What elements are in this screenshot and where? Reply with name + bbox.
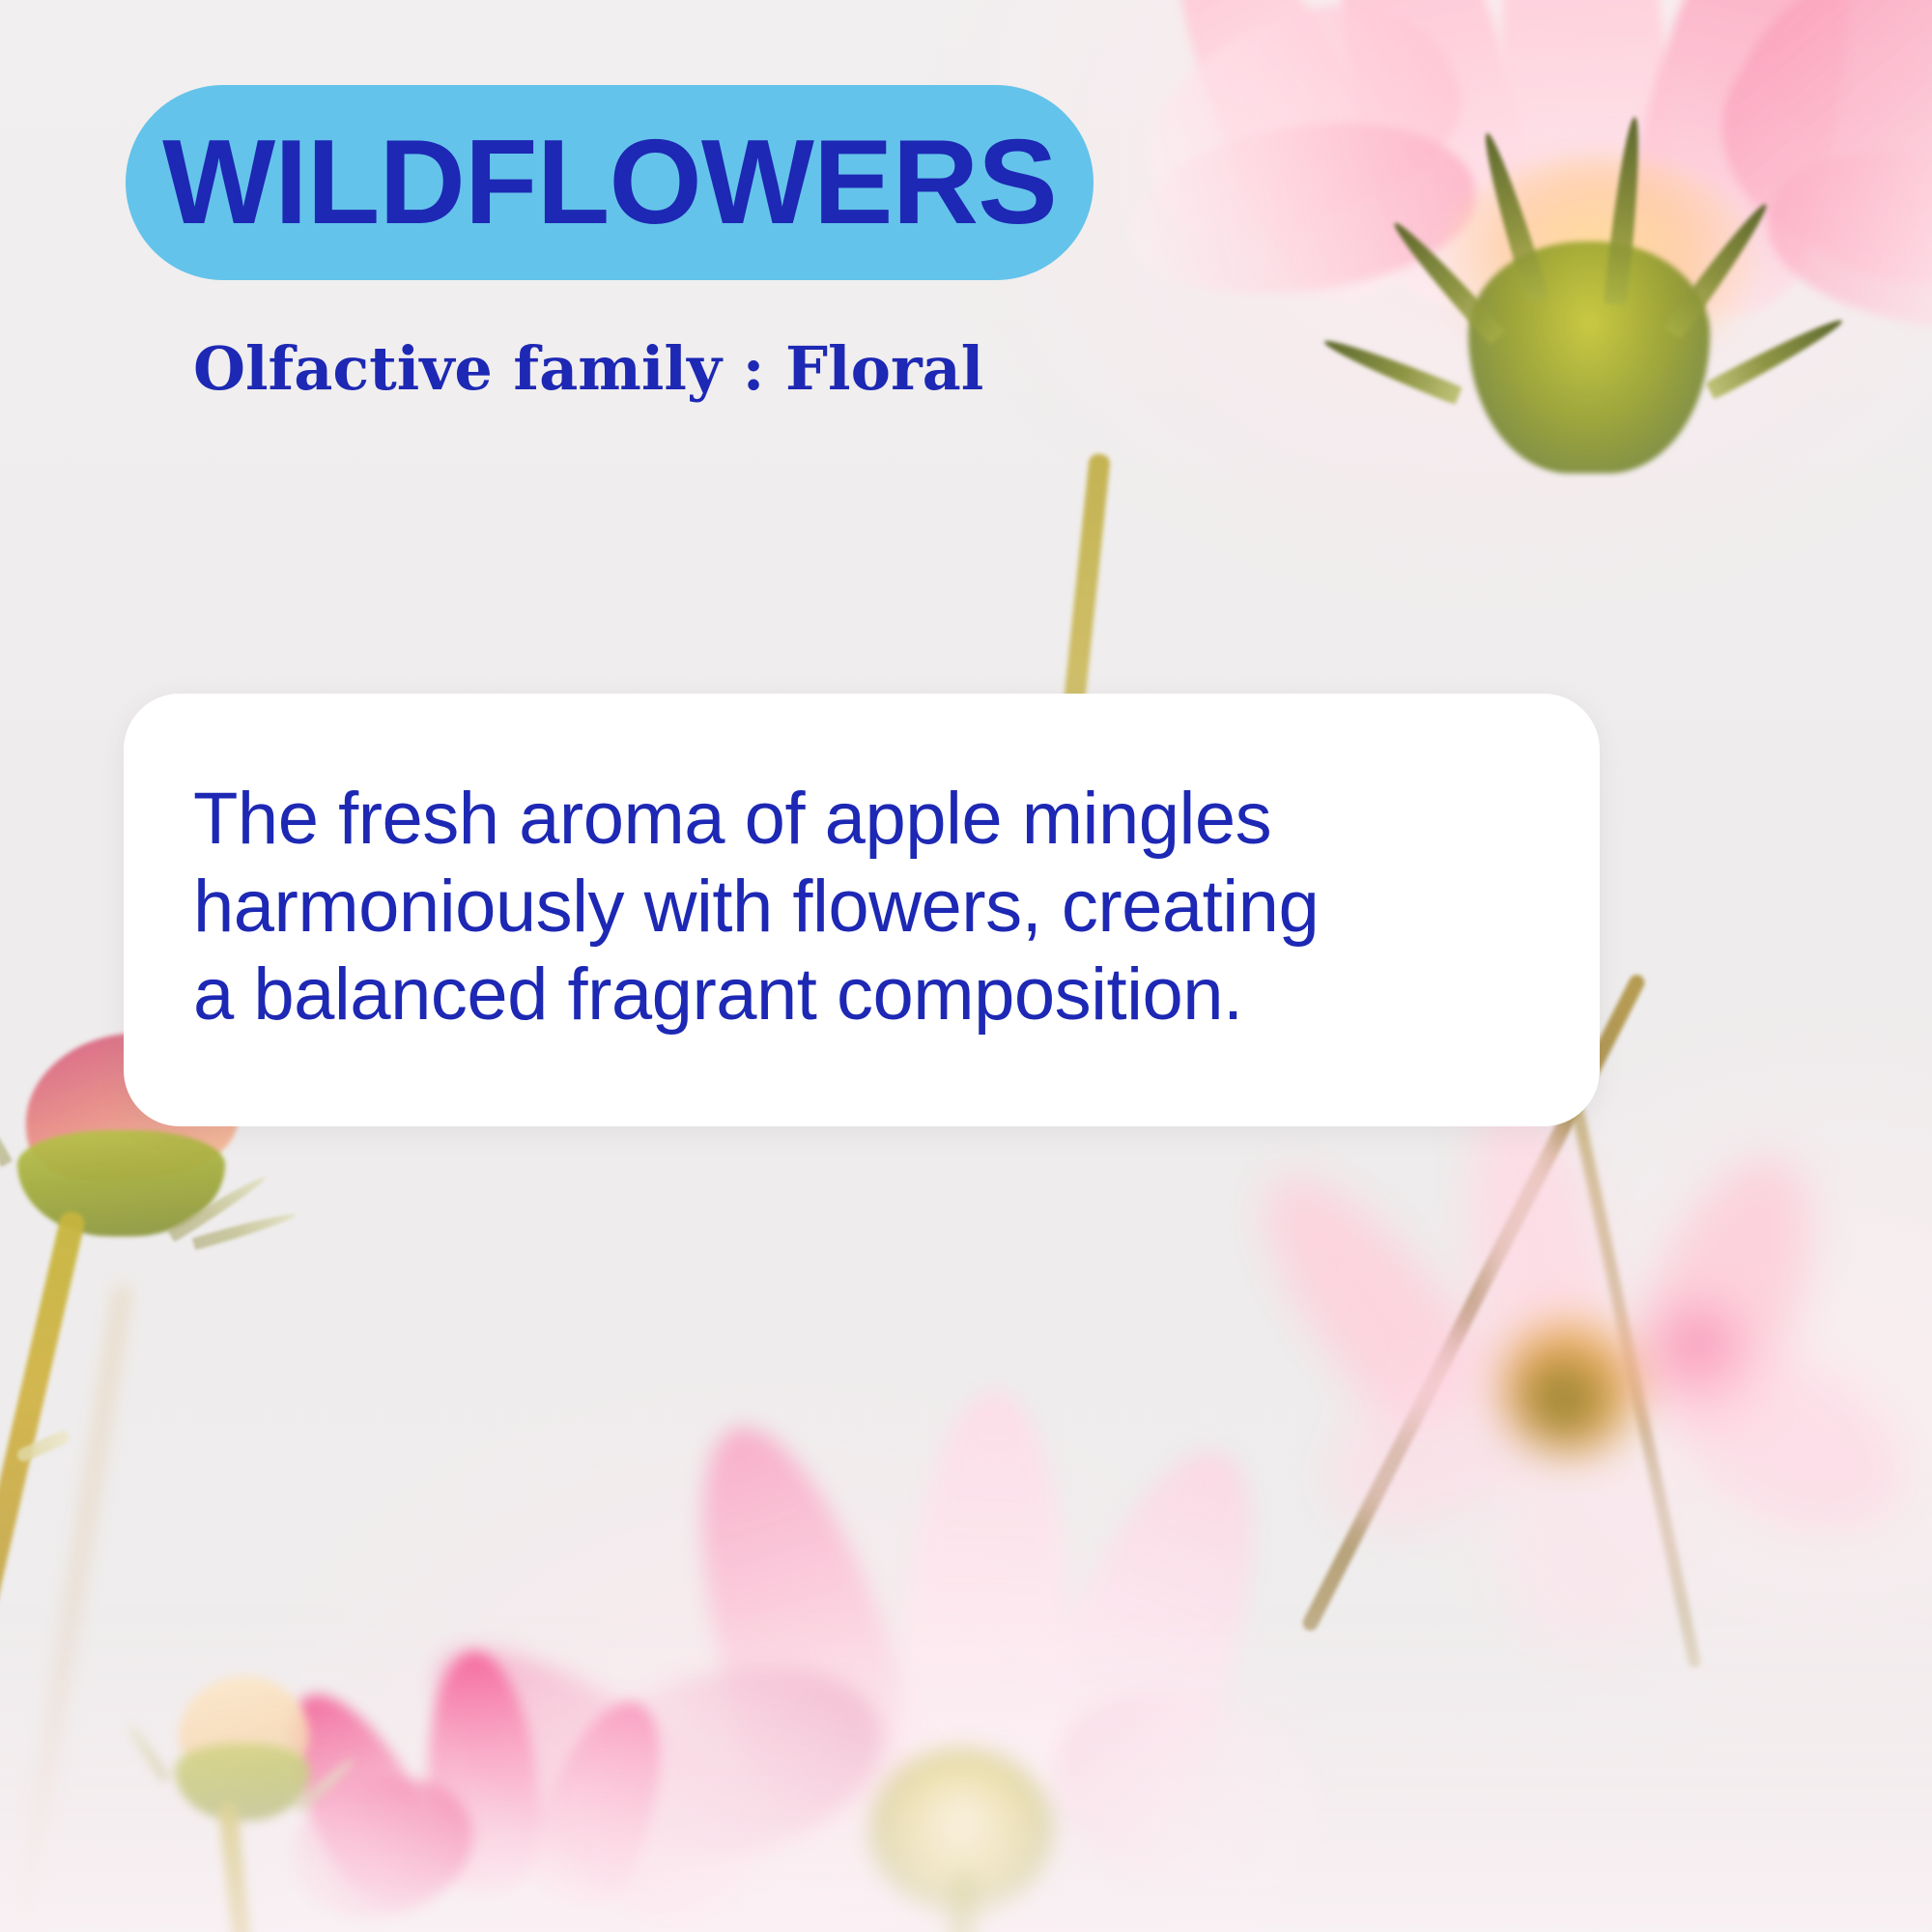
petal bbox=[515, 1685, 688, 1920]
flower-calyx bbox=[1468, 241, 1710, 473]
poster-canvas: WILDFLOWERS Olfactive family : Floral Th… bbox=[0, 0, 1932, 1932]
sepal bbox=[1321, 333, 1463, 406]
small-bud-bottom-left-image bbox=[150, 1676, 372, 1932]
page-title: WILDFLOWERS bbox=[162, 123, 1057, 242]
flower-center bbox=[1502, 1319, 1637, 1454]
petal-highlight bbox=[1642, 1290, 1753, 1401]
wildflowers-badge: WILDFLOWERS bbox=[126, 85, 1094, 280]
cosmos-flower-top-right-image bbox=[985, 0, 1932, 570]
sepal bbox=[0, 1073, 13, 1168]
bud-calyx bbox=[175, 1744, 310, 1821]
olfactive-family-subtitle: Olfactive family : Floral bbox=[193, 336, 983, 402]
description-text: The fresh aroma of apple mingles harmoni… bbox=[193, 775, 1546, 1039]
description-card: The fresh aroma of apple mingles harmoni… bbox=[124, 694, 1600, 1126]
blurred-cosmos-right-image bbox=[1333, 1111, 1932, 1710]
sepal bbox=[125, 1721, 171, 1783]
